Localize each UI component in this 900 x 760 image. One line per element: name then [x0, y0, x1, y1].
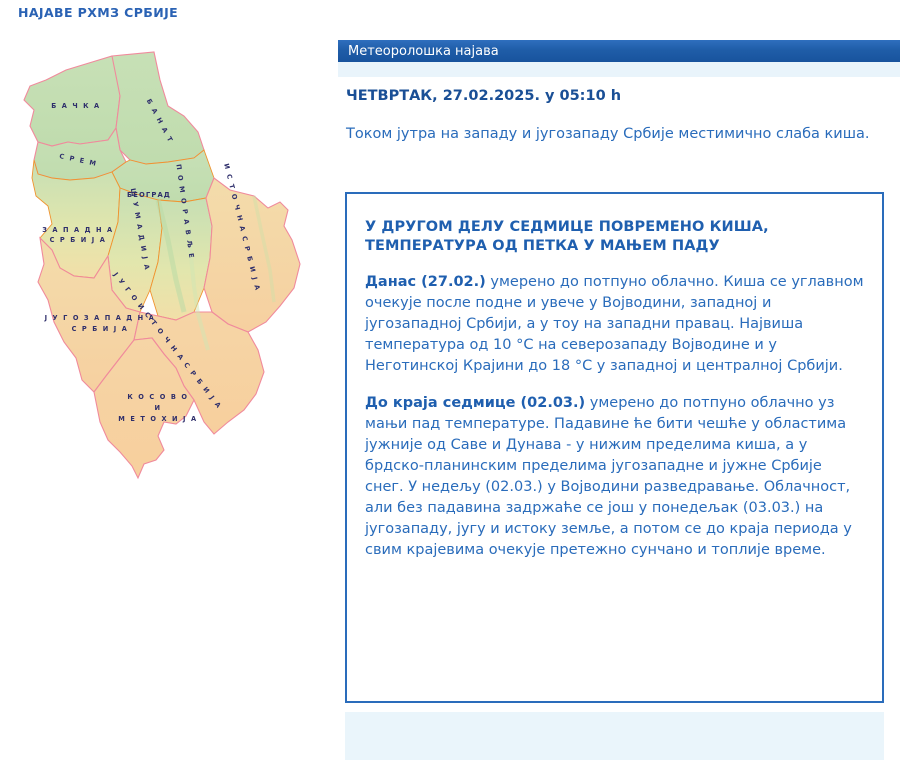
map-label-jugozapadna-srbija-1: Ј У Г О З А П А Д Н А — [44, 314, 156, 322]
forecast-headline: У ДРУГОМ ДЕЛУ СЕДМИЦЕ ПОВРЕМЕНО КИША, ТЕ… — [365, 218, 864, 256]
forecast-box: У ДРУГОМ ДЕЛУ СЕДМИЦЕ ПОВРЕМЕНО КИША, ТЕ… — [345, 192, 884, 703]
panel-bottom-band — [345, 712, 884, 760]
forecast-paragraph-week-body: умерено до потпуно облачно уз мањи пад т… — [365, 395, 852, 558]
issue-date: ЧЕТВРТАК, 27.02.2025. у 05:10 h — [346, 88, 621, 104]
map-label-zapadna-srbija-1: З А П А Д Н А — [42, 226, 113, 234]
forecast-headline-line1: У ДРУГОМ ДЕЛУ СЕДМИЦЕ ПОВРЕМЕНО КИША, — [365, 219, 769, 235]
forecast-paragraph-week: До краја седмице (02.03.) умерено до пот… — [365, 393, 864, 561]
map-label-zapadna-srbija-2: С Р Б И Ј А — [50, 236, 107, 244]
lead-text: Током јутра на западу и југозападу Србиј… — [346, 124, 886, 145]
forecast-paragraph-today-lead: Данас (27.02.) — [365, 274, 486, 290]
region-backa — [24, 56, 126, 146]
forecast-panel: Метеоролошка најава ЧЕТВРТАК, 27.02.2025… — [338, 40, 900, 720]
forecast-headline-line2: ТЕМПЕРАТУРА ОД ПЕТКА У МАЊЕМ ПАДУ — [365, 238, 720, 254]
map-label-jugozapadna-srbija-2: С Р Б И Ј А — [72, 325, 129, 333]
page-title: НАЈАВЕ РХМЗ СРБИЈЕ — [18, 5, 178, 20]
panel-header-underband — [338, 62, 900, 77]
map-label-kosovo-3: М Е Т О Х И Ј А — [118, 415, 197, 423]
forecast-paragraph-today: Данас (27.02.) умерено до потпуно облачн… — [365, 272, 864, 377]
serbia-map-panel: Б А Ч К А Б А Н А Т С Р Е М БЕОГРАД З А … — [8, 50, 328, 500]
panel-header-title: Метеоролошка најава — [338, 40, 900, 62]
serbia-map-svg: Б А Ч К А Б А Н А Т С Р Е М БЕОГРАД З А … — [8, 50, 328, 500]
forecast-paragraph-week-lead: До краја седмице (02.03.) — [365, 395, 585, 411]
map-label-backa: Б А Ч К А — [51, 102, 101, 110]
map-label-kosovo-1: К О С О В О — [127, 393, 188, 401]
map-label-kosovo-2: И — [154, 404, 161, 412]
